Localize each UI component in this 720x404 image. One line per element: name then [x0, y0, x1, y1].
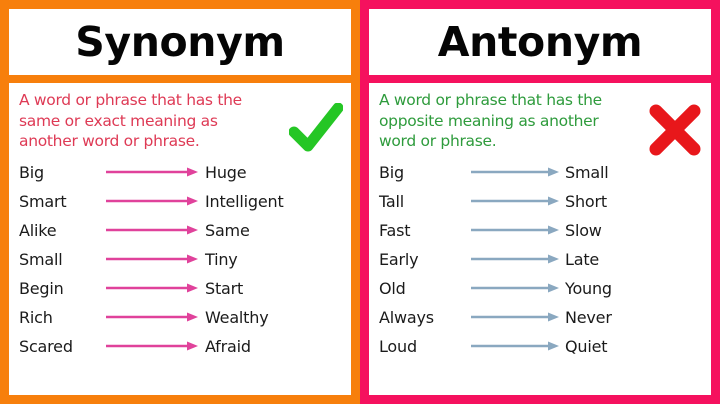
pair-word-from: Begin: [19, 279, 101, 298]
synonym-body: A word or phrase that has the same or ex…: [9, 83, 351, 395]
antonym-pair-list: Big Small Tall Short Fast: [379, 158, 703, 361]
synonym-pair-list: Big Huge Smart Intelligent Alike: [19, 158, 343, 361]
synonym-panel: Synonym A word or phrase that has the sa…: [0, 0, 360, 404]
antonym-title-box: Antonym: [369, 9, 711, 75]
arrow-icon: [467, 195, 565, 207]
arrow-icon: [467, 282, 565, 294]
pair-word-to: Same: [205, 221, 250, 240]
pair-word-from: Rich: [19, 308, 101, 327]
arrow-icon: [101, 195, 205, 207]
pair-row: Tall Short: [379, 187, 703, 216]
synonym-title-box: Synonym: [9, 9, 351, 75]
pair-row: Big Small: [379, 158, 703, 187]
pair-row: Fast Slow: [379, 216, 703, 245]
synonym-title: Synonym: [75, 22, 284, 63]
antonym-panel: Antonym A word or phrase that has the op…: [360, 0, 720, 404]
pair-word-to: Quiet: [565, 337, 607, 356]
pair-word-from: Tall: [379, 192, 467, 211]
pair-word-to: Small: [565, 163, 608, 182]
pair-word-from: Fast: [379, 221, 467, 240]
arrow-icon: [101, 253, 205, 265]
pair-row: Small Tiny: [19, 245, 343, 274]
arrow-icon: [101, 340, 205, 352]
arrow-icon: [101, 311, 205, 323]
arrow-icon: [467, 166, 565, 178]
arrow-icon: [467, 224, 565, 236]
pair-row: Loud Quiet: [379, 332, 703, 361]
pair-word-to: Wealthy: [205, 308, 268, 327]
cross-mark-icon: [647, 103, 703, 162]
arrow-icon: [467, 311, 565, 323]
pair-word-to: Start: [205, 279, 243, 298]
pair-word-to: Tiny: [205, 250, 238, 269]
comparison-board: Synonym A word or phrase that has the sa…: [0, 0, 720, 404]
pair-word-from: Small: [19, 250, 101, 269]
synonym-description: A word or phrase that has the same or ex…: [19, 90, 271, 152]
pair-row: Scared Afraid: [19, 332, 343, 361]
pair-word-to: Never: [565, 308, 612, 327]
pair-word-from: Always: [379, 308, 467, 327]
pair-word-from: Big: [19, 163, 101, 182]
pair-word-to: Afraid: [205, 337, 251, 356]
pair-row: Begin Start: [19, 274, 343, 303]
antonym-body: A word or phrase that has the opposite m…: [369, 83, 711, 395]
antonym-title: Antonym: [438, 22, 643, 63]
pair-row: Big Huge: [19, 158, 343, 187]
pair-word-from: Loud: [379, 337, 467, 356]
arrow-icon: [101, 282, 205, 294]
pair-row: Smart Intelligent: [19, 187, 343, 216]
pair-word-to: Short: [565, 192, 607, 211]
pair-row: Always Never: [379, 303, 703, 332]
pair-word-from: Smart: [19, 192, 101, 211]
pair-word-from: Scared: [19, 337, 101, 356]
pair-row: Rich Wealthy: [19, 303, 343, 332]
pair-word-to: Slow: [565, 221, 602, 240]
arrow-icon: [467, 340, 565, 352]
arrow-icon: [467, 253, 565, 265]
pair-word-to: Huge: [205, 163, 246, 182]
pair-word-to: Intelligent: [205, 192, 284, 211]
arrow-icon: [101, 224, 205, 236]
pair-row: Old Young: [379, 274, 703, 303]
antonym-description: A word or phrase that has the opposite m…: [379, 90, 631, 152]
check-mark-icon: [289, 103, 343, 160]
arrow-icon: [101, 166, 205, 178]
pair-word-from: Big: [379, 163, 467, 182]
pair-row: Alike Same: [19, 216, 343, 245]
pair-word-to: Late: [565, 250, 599, 269]
pair-word-to: Young: [565, 279, 612, 298]
pair-word-from: Early: [379, 250, 467, 269]
pair-row: Early Late: [379, 245, 703, 274]
pair-word-from: Alike: [19, 221, 101, 240]
pair-word-from: Old: [379, 279, 467, 298]
